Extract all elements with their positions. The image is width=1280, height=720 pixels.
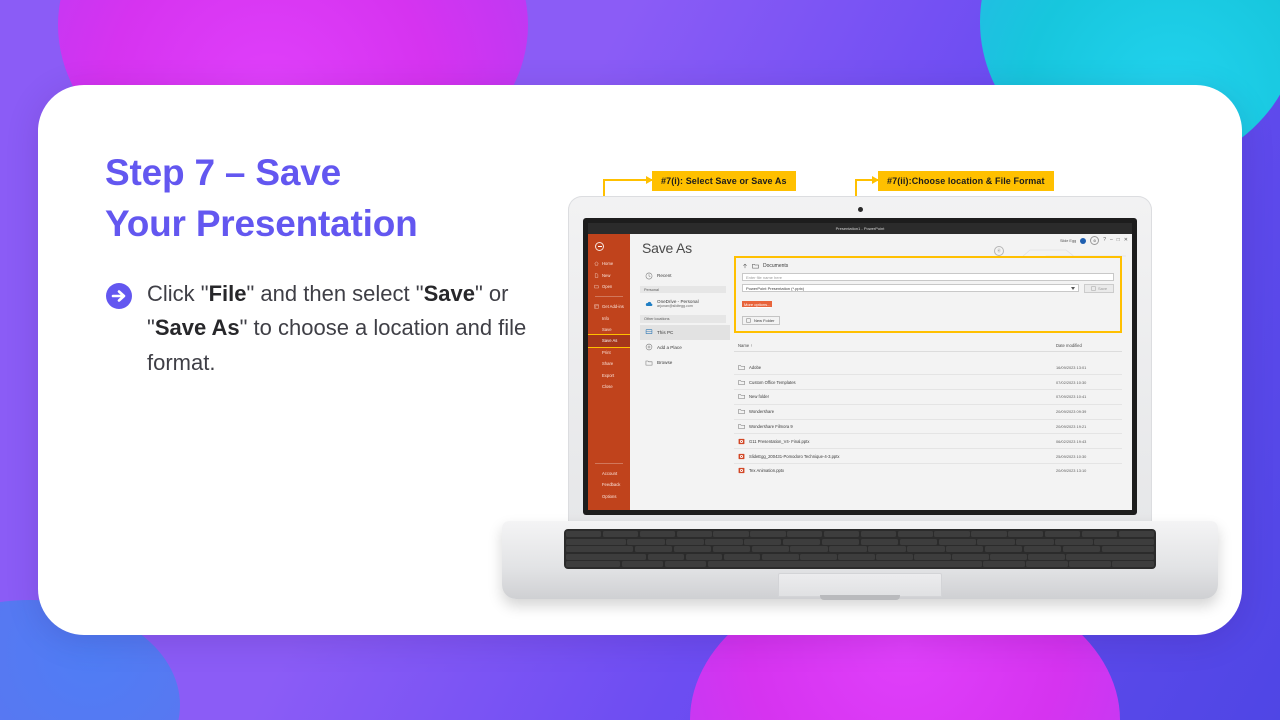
table-row[interactable]: Wondershare 20/09/2023 09:39 [734,405,1122,420]
file-date: 20/09/2023 09:39 [1056,409,1118,414]
file-date: 07/02/2023 10:30 [1056,380,1118,385]
laptop-notch [820,595,900,600]
sidebar-label: New [602,273,610,278]
powerpoint-icon [738,438,745,445]
save-button[interactable]: Save [1084,284,1114,293]
laptop-base [502,521,1218,599]
bullet-text: Click "File" and then select "Save" or "… [147,277,535,379]
place-onedrive-text: OneDrive - Personal arjunan@slidtegg.com [657,299,699,309]
file-name: G11 Presentation_V4- Final.pptx [749,439,809,444]
app-titlebar: Presentation1 - PowerPoint [588,223,1132,234]
laptop-screen: Presentation1 - PowerPoint Home [588,223,1132,510]
up-arrow-icon[interactable] [742,263,748,269]
this-pc-icon [645,328,653,336]
table-row[interactable]: SlideEgg_200431-Pomodoro Technique-4-3.p… [734,449,1122,464]
places-group-personal: Personal [640,286,726,293]
addins-icon [594,304,599,309]
place-label: Add a Place [657,345,682,350]
new-folder-label: New Folder [754,318,774,323]
folder-icon [738,364,745,371]
sidebar-label: Options [602,494,616,499]
place-label: Recent [657,273,672,278]
sidebar-item-options[interactable]: Options [588,491,630,502]
more-options-link[interactable]: More options... [742,301,772,307]
title-line-2: Your Presentation [105,199,535,250]
folder-icon [738,408,745,415]
place-recent[interactable]: Recent [640,268,730,283]
place-onedrive[interactable]: OneDrive - Personal arjunan@slidtegg.com [640,295,730,312]
sidebar-label: Export [602,373,614,378]
table-row[interactable]: New folder 07/09/2023 10:41 [734,390,1122,405]
sidebar-item-home[interactable]: Home [588,258,630,269]
place-this-pc[interactable]: This PC [640,325,730,340]
slide-text-column: Step 7 – Save Your Presentation Click "F… [105,148,535,380]
file-date: 06/02/2023 19:43 [1056,439,1118,444]
places-group-other: Other locations [640,315,726,322]
bullet-bold-save-as: Save As [155,315,240,340]
sidebar-label: Feedback [602,482,620,487]
backstage-heading: Save As [642,240,692,256]
sidebar-item-open[interactable]: Open [588,281,630,292]
open-folder-icon [594,284,599,289]
file-date: 16/09/2023 13:01 [1056,365,1118,370]
file-name: Adobe [749,365,761,370]
sidebar-label: Get Add-ins [602,304,624,309]
new-document-icon [594,273,599,278]
breadcrumb: Documents [742,263,1114,269]
laptop-mockup: Presentation1 - PowerPoint Home [502,196,1218,608]
file-list-header: Name ↑ Date modified [734,338,1122,352]
file-name: Custom Office Templates [749,380,796,385]
page-title: Step 7 – Save Your Presentation [105,148,535,249]
save-button-label: Save [1098,286,1107,291]
save-options-highlight: Documents Enter file name here PowerPoin… [734,256,1122,333]
sidebar-bottom-group: Account Feedback Options [588,459,630,510]
filetype-select[interactable]: PowerPoint Presentation (*.pptx) [742,284,1079,292]
table-row[interactable]: Tex Animation.pptx 20/09/2023 13:10 [734,464,1122,478]
file-name: Tex Animation.pptx [749,468,784,473]
arrow-right-circle-icon [105,282,133,315]
bullet-prefix: Click " [147,281,209,306]
chevron-down-icon [1071,287,1075,290]
new-folder-icon [746,318,751,323]
sidebar-item-get-addins[interactable]: Get Add-ins [588,301,630,312]
backstage-main: Save As Slide Egg ⚙ ? – □ ✕ Ⓚ [630,234,1132,510]
place-label: This PC [657,330,673,335]
column-header-date[interactable]: Date modified [1056,343,1118,348]
file-name: SlideEgg_200431-Pomodoro Technique-4-3.p… [749,454,839,459]
file-browser: Documents Enter file name here PowerPoin… [730,234,1132,510]
breadcrumb-label: Documents [763,263,788,269]
onedrive-cloud-icon [645,300,653,308]
sidebar-label: Share [602,361,613,366]
bullet-mid-1: " and then select " [247,281,424,306]
home-icon [594,261,599,266]
callout-choose-location: #7(ii):Choose location & File Format [878,171,1054,191]
sidebar-item-close[interactable]: Close [588,381,630,392]
file-date: 20/09/2023 13:10 [1056,468,1118,473]
sidebar-item-info[interactable]: Info [588,313,630,324]
laptop-lid: Presentation1 - PowerPoint Home [568,196,1152,526]
folder-icon [738,423,745,430]
sidebar-divider-2 [595,463,623,464]
backstage-sidebar: Home New Open [588,234,630,510]
sidebar-label: Save As [602,338,617,343]
bullet-bold-save: Save [424,281,475,306]
save-disk-icon [1091,286,1096,291]
file-list-spacer [734,352,1122,361]
laptop-screen-bezel: Presentation1 - PowerPoint Home [583,218,1137,515]
sidebar-label: Open [602,284,612,289]
keyboard [564,529,1156,569]
sidebar-item-print[interactable]: Print [588,347,630,358]
webcam-icon [858,207,863,212]
place-sublabel: arjunan@slidtegg.com [657,304,699,309]
place-browse[interactable]: Browse [640,355,730,370]
places-column: Recent Personal OneDrive - Personal arju… [630,234,730,510]
filename-row: Enter file name here [742,273,1114,281]
sidebar-item-save-as[interactable]: Save As [588,335,630,346]
powerpoint-icon [738,453,745,460]
title-line-1: Step 7 – Save [105,148,535,199]
table-row[interactable]: Custom Office Templates 07/02/2023 10:30 [734,375,1122,390]
table-row[interactable]: G11 Presentation_V4- Final.pptx 06/02/20… [734,434,1122,449]
new-folder-button[interactable]: New Folder [742,316,780,325]
back-arrow-icon[interactable] [595,242,604,251]
file-date: 20/09/2023 19:21 [1056,424,1118,429]
bullet-bold-file: File [209,281,247,306]
sidebar-item-share[interactable]: Share [588,358,630,369]
file-name: Wondershare [749,409,774,414]
add-place-icon [645,343,653,351]
folder-icon [738,393,745,400]
powerpoint-icon [738,467,745,474]
sidebar-label: Home [602,261,613,266]
filetype-value: PowerPoint Presentation (*.pptx) [746,286,804,291]
sidebar-item-export[interactable]: Export [588,369,630,380]
file-date: 07/09/2023 10:41 [1056,394,1118,399]
table-row[interactable]: Wondershare Filmora 9 20/09/2023 19:21 [734,420,1122,435]
sidebar-item-feedback[interactable]: Feedback [588,479,630,490]
sidebar-label: Info [602,316,609,321]
sidebar-label: Print [602,350,611,355]
place-label: Browse [657,360,672,365]
callout-select-save: #7(i): Select Save or Save As [652,171,796,191]
sidebar-item-account[interactable]: Account [588,468,630,479]
trackpad [778,573,942,597]
sidebar-label: Account [602,471,617,476]
place-add-a-place[interactable]: Add a Place [640,340,730,355]
app-title-text: Presentation1 - PowerPoint [836,226,885,231]
filetype-row: PowerPoint Presentation (*.pptx) Save [742,284,1114,293]
browse-folder-icon [645,359,653,367]
sidebar-divider-1 [595,296,623,297]
column-header-name[interactable]: Name ↑ [738,343,1056,348]
clock-icon [645,272,653,280]
folder-icon [738,379,745,386]
bullet-row: Click "File" and then select "Save" or "… [105,277,535,379]
folder-icon [752,263,759,269]
sidebar-label: Close [602,384,613,389]
sidebar-item-save[interactable]: Save [588,324,630,335]
file-name: New folder [749,394,769,399]
filename-input[interactable]: Enter file name here [742,273,1114,281]
sidebar-item-new[interactable]: New [588,269,630,280]
app-body: Home New Open [588,234,1132,510]
table-row[interactable]: Adobe 16/09/2023 13:01 [734,361,1122,376]
file-name: Wondershare Filmora 9 [749,424,793,429]
sidebar-label: Save [602,327,612,332]
file-date: 25/09/2023 10:30 [1056,454,1118,459]
